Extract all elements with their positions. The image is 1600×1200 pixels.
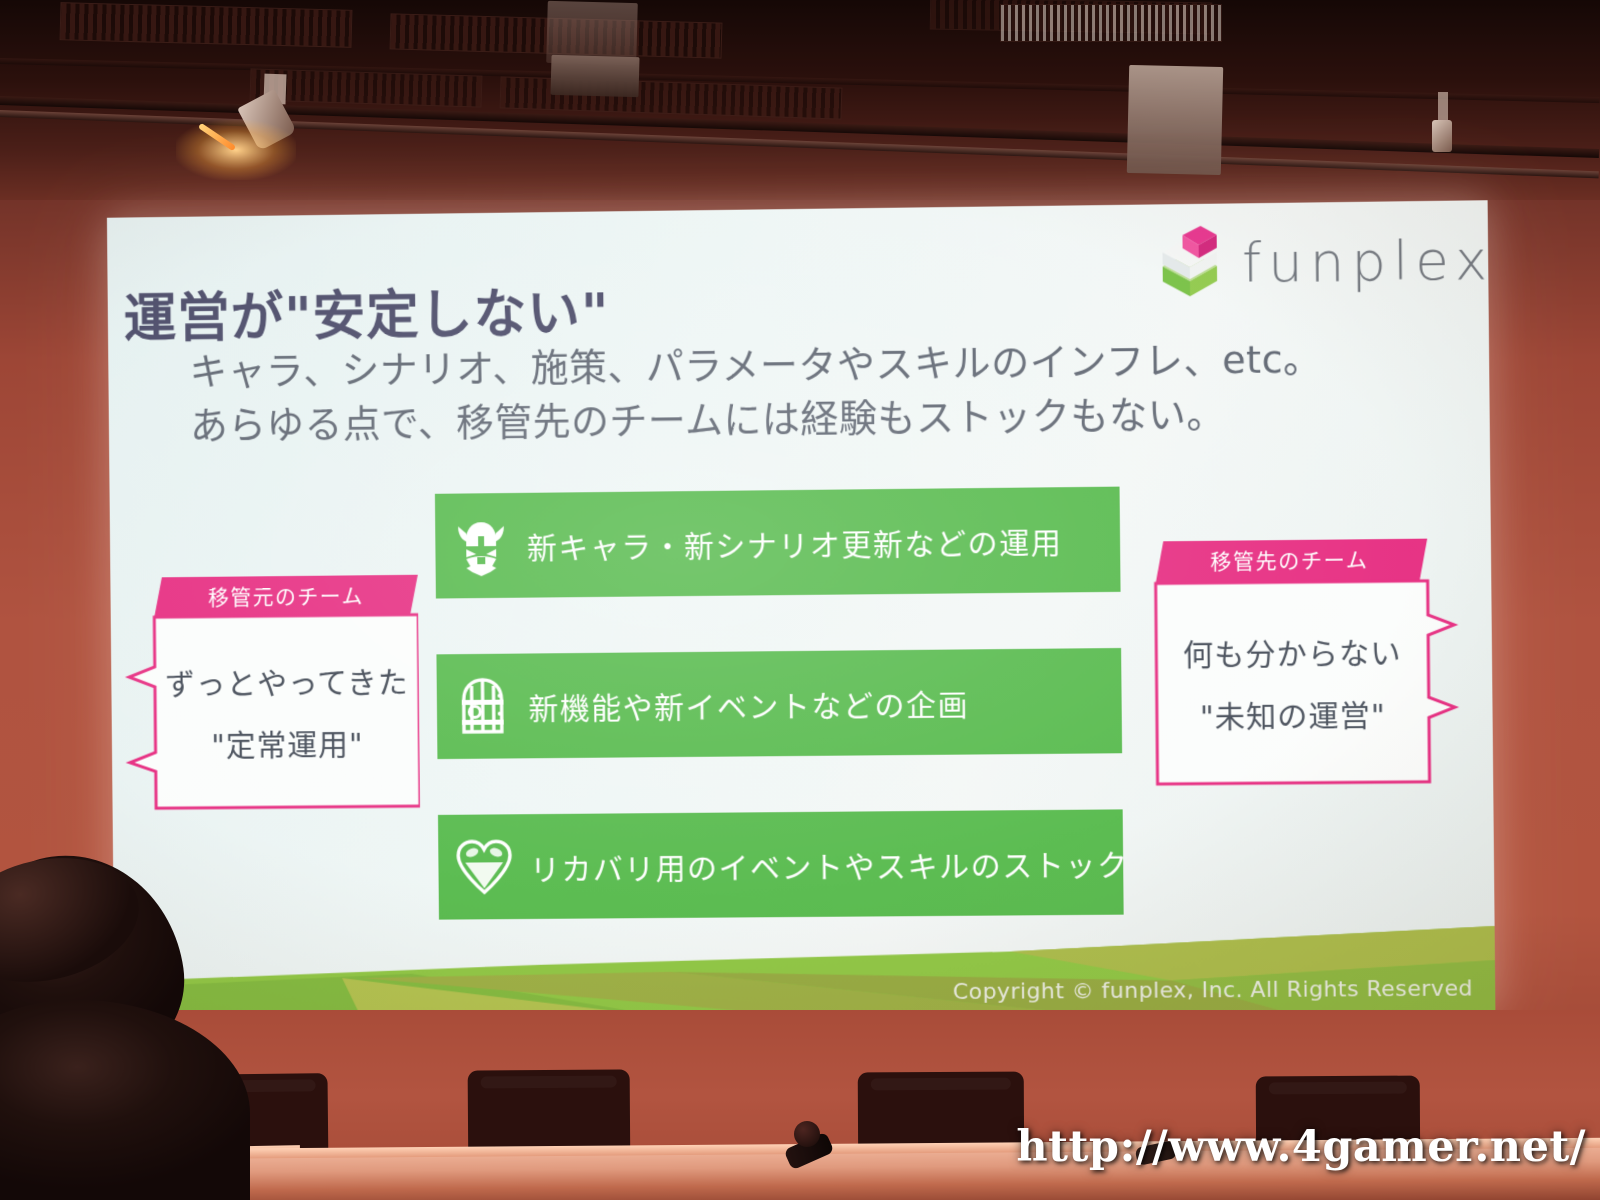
projection-screen: funplex 運営が"安定しない" キャラ、シナリオ、施策、パラメータやスキル… [107, 200, 1495, 1021]
viking-helmet-icon [435, 515, 527, 576]
callout-left-tab: 移管元のチーム [154, 575, 418, 617]
subtitle-line-2: あらゆる点で、移管先のチームには経験もストックもない。 [190, 387, 1323, 453]
door-icon [437, 675, 529, 738]
task-bar-stock: リカバリ用のイベントやスキルのストック [438, 809, 1124, 919]
wall-speaker [1127, 65, 1223, 175]
task-bar-label: リカバリ用のイベントやスキルのストック [530, 840, 1129, 889]
footer-polygons [114, 926, 1496, 1021]
spotlight-head [1432, 120, 1452, 152]
slide-title: 運営が"安定しない" [123, 271, 610, 353]
cable-tray [1000, 4, 1222, 42]
site-watermark: http://www.4gamer.net/ [1016, 1122, 1586, 1172]
callout-left-body: ずっとやってきた "定常運用" [154, 615, 420, 809]
heart-potion-icon [438, 838, 530, 897]
funplex-cube-icon [1152, 226, 1227, 301]
callout-right-tab: 移管先のチーム [1155, 539, 1423, 582]
callout-source-team: 移管元のチーム ずっとやってきた "定常運用" [120, 575, 420, 817]
callout-right-body: 何も分からない "未知の運営" [1156, 581, 1430, 784]
task-bar-planning: 新機能や新イベントなどの企画 [436, 648, 1122, 759]
callout-left-line-2: "定常運用" [211, 720, 364, 765]
callout-target-team: 移管先のチーム 何も分からない "未知の運営" [1135, 538, 1460, 792]
slide-footer: Copyright © funplex, Inc. All Rights Res… [114, 926, 1496, 1021]
callout-right-line-2: "未知の運営" [1200, 691, 1386, 737]
presentation-slide: funplex 運営が"安定しない" キャラ、シナリオ、施策、パラメータやスキル… [107, 200, 1495, 1021]
callout-right-tab-label: 移管先のチーム [1210, 544, 1368, 576]
callout-left-tab-label: 移管元のチーム [208, 580, 364, 611]
copyright-text: Copyright © funplex, Inc. All Rights Res… [953, 976, 1473, 1005]
logo-wordmark: funplex [1242, 228, 1495, 294]
spotlight-glow [176, 120, 296, 180]
ceiling-vent [60, 2, 353, 48]
slide-subtitle: キャラ、シナリオ、施策、パラメータやスキルのインフレ、etc。 あらゆる点で、移… [189, 333, 1322, 454]
task-bar-operations: 新キャラ・新シナリオ更新などの運用 [435, 487, 1121, 599]
funplex-logo: funplex [1152, 222, 1494, 300]
callout-left-line-1: ずっとやってきた [165, 658, 409, 704]
projector-body [550, 55, 639, 97]
callout-right-line-1: 何も分からない [1183, 628, 1402, 674]
ceiling [0, 0, 1600, 200]
task-bar-label: 新機能や新イベントなどの企画 [528, 680, 969, 728]
task-bar-label: 新キャラ・新シナリオ更新などの運用 [527, 518, 1063, 567]
microphone-head [794, 1121, 820, 1147]
conference-room-photo: funplex 運営が"安定しない" キャラ、シナリオ、施策、パラメータやスキル… [0, 0, 1600, 1200]
